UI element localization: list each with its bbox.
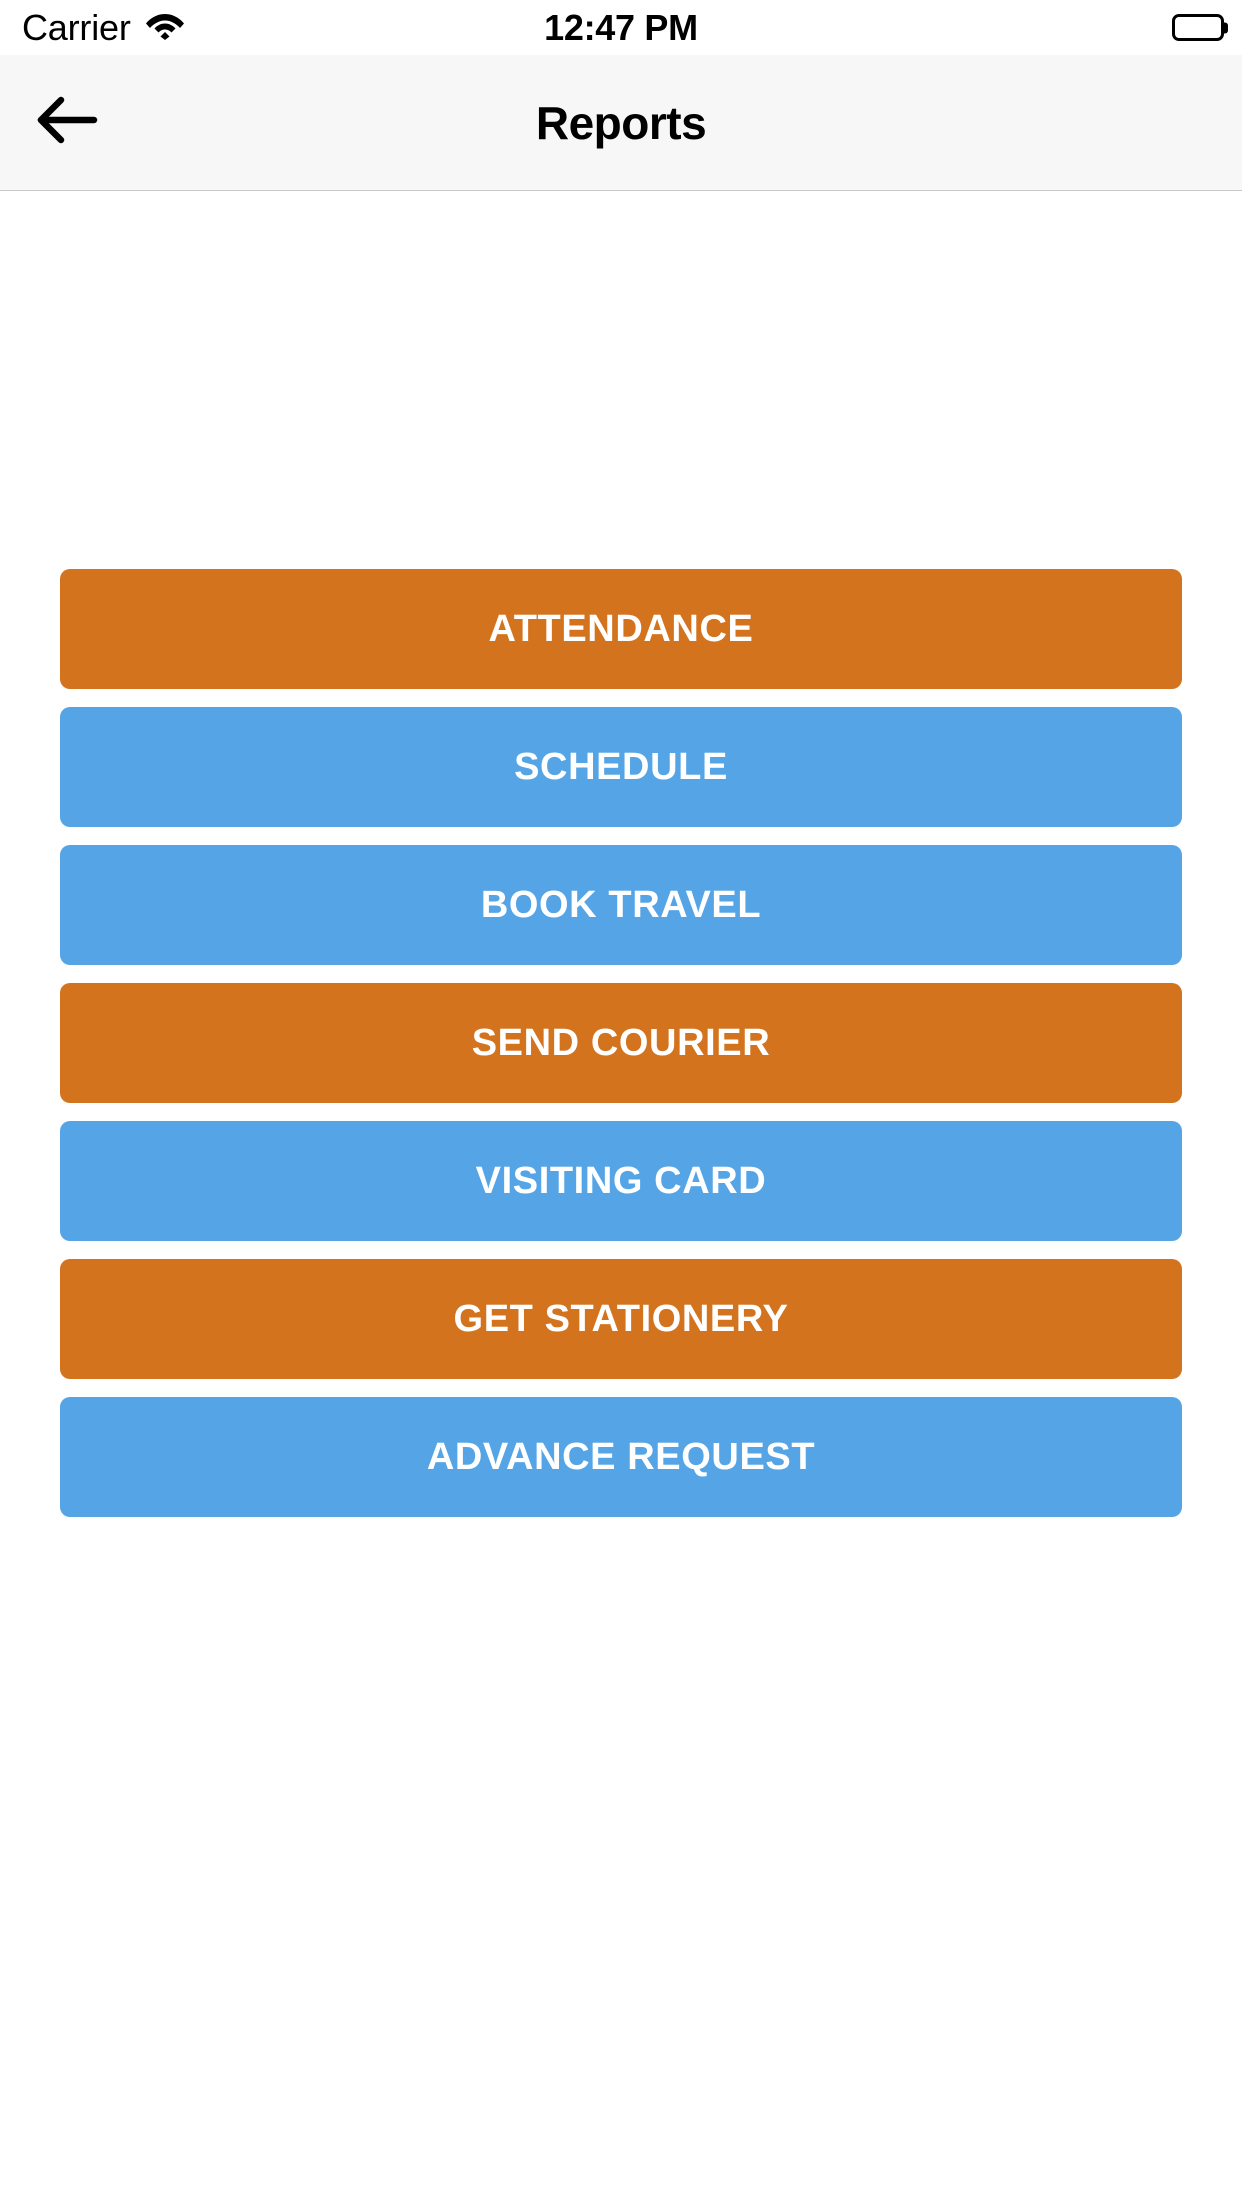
page-title: Reports — [0, 100, 1242, 146]
back-button[interactable] — [28, 83, 108, 163]
status-bar-time: 12:47 PM — [0, 10, 1242, 46]
report-button-attendance[interactable]: ATTENDANCE — [60, 569, 1182, 689]
navigation-bar: Reports — [0, 55, 1242, 191]
report-button-label: GET STATIONERY — [454, 1300, 789, 1338]
report-button-advance-request[interactable]: ADVANCE REQUEST — [60, 1397, 1182, 1517]
report-button-label: ATTENDANCE — [489, 610, 754, 648]
report-button-label: VISITING CARD — [476, 1162, 767, 1200]
report-button-book-travel[interactable]: BOOK TRAVEL — [60, 845, 1182, 965]
content-area: ATTENDANCE SCHEDULE BOOK TRAVEL SEND COU… — [0, 191, 1242, 1517]
battery-icon — [1172, 14, 1224, 41]
arrow-left-icon — [37, 95, 99, 150]
report-button-label: SCHEDULE — [514, 748, 728, 786]
report-button-label: SEND COURIER — [472, 1024, 771, 1062]
battery-cap — [1224, 22, 1228, 33]
report-button-visiting-card[interactable]: VISITING CARD — [60, 1121, 1182, 1241]
report-button-get-stationery[interactable]: GET STATIONERY — [60, 1259, 1182, 1379]
report-button-schedule[interactable]: SCHEDULE — [60, 707, 1182, 827]
report-button-label: ADVANCE REQUEST — [427, 1438, 815, 1476]
report-button-send-courier[interactable]: SEND COURIER — [60, 983, 1182, 1103]
status-bar: Carrier 12:47 PM — [0, 0, 1242, 55]
report-button-label: BOOK TRAVEL — [481, 886, 761, 924]
report-button-list: ATTENDANCE SCHEDULE BOOK TRAVEL SEND COU… — [0, 569, 1242, 1517]
status-bar-right — [1172, 14, 1224, 41]
